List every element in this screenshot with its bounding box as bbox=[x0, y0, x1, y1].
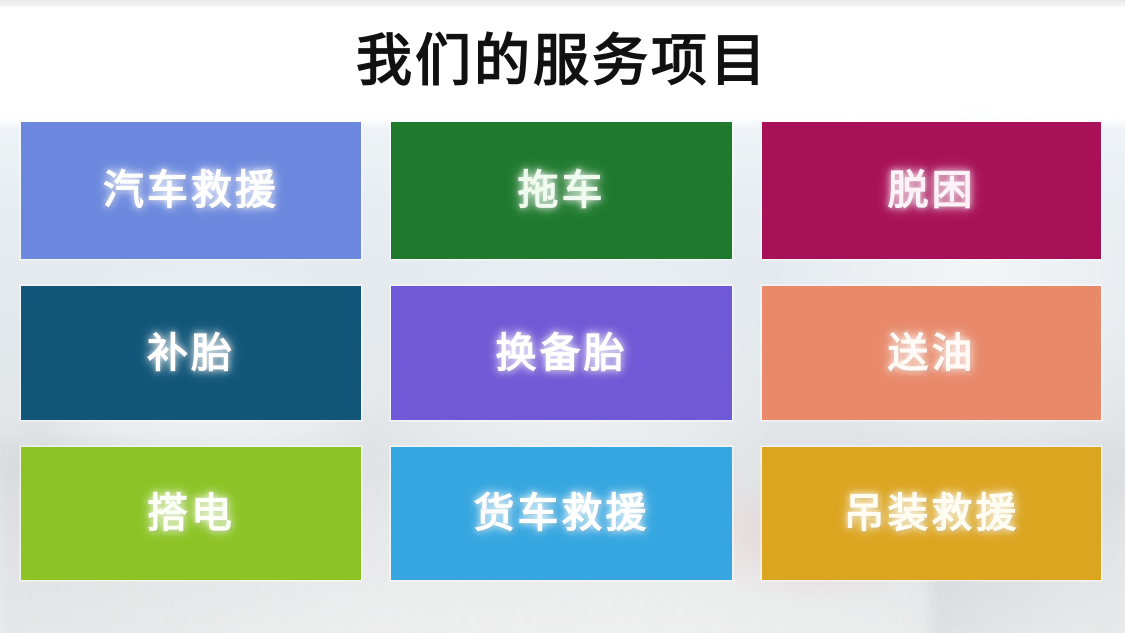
service-card[interactable]: 吊装救援 bbox=[762, 447, 1101, 580]
service-card-label: 拖车 bbox=[518, 170, 606, 211]
services-grid: 汽车救援拖车脱困补胎换备胎送油搭电货车救援吊装救援 bbox=[0, 122, 1125, 580]
page-title: 我们的服务项目 bbox=[356, 33, 769, 89]
service-card-label: 吊装救援 bbox=[844, 493, 1020, 534]
service-card-label: 补胎 bbox=[147, 333, 235, 374]
service-card-label: 脱困 bbox=[888, 170, 976, 211]
service-card[interactable]: 换备胎 bbox=[391, 286, 732, 420]
service-card[interactable]: 汽车救援 bbox=[21, 122, 361, 259]
service-card[interactable]: 货车救援 bbox=[391, 447, 732, 580]
service-card-label: 搭电 bbox=[147, 493, 235, 534]
service-poster: 我们的服务项目 汽车救援拖车脱困补胎换备胎送油搭电货车救援吊装救援 bbox=[0, 0, 1125, 633]
service-card-label: 送油 bbox=[888, 333, 976, 374]
service-card[interactable]: 拖车 bbox=[391, 122, 732, 259]
service-card[interactable]: 搭电 bbox=[21, 447, 361, 580]
poster-header: 我们的服务项目 bbox=[0, 0, 1125, 122]
service-card[interactable]: 补胎 bbox=[21, 286, 361, 420]
service-card-label: 汽车救援 bbox=[103, 170, 279, 211]
service-card[interactable]: 脱困 bbox=[762, 122, 1101, 259]
service-card-label: 换备胎 bbox=[496, 333, 628, 374]
service-card-label: 货车救援 bbox=[474, 493, 650, 534]
service-card[interactable]: 送油 bbox=[762, 286, 1101, 420]
